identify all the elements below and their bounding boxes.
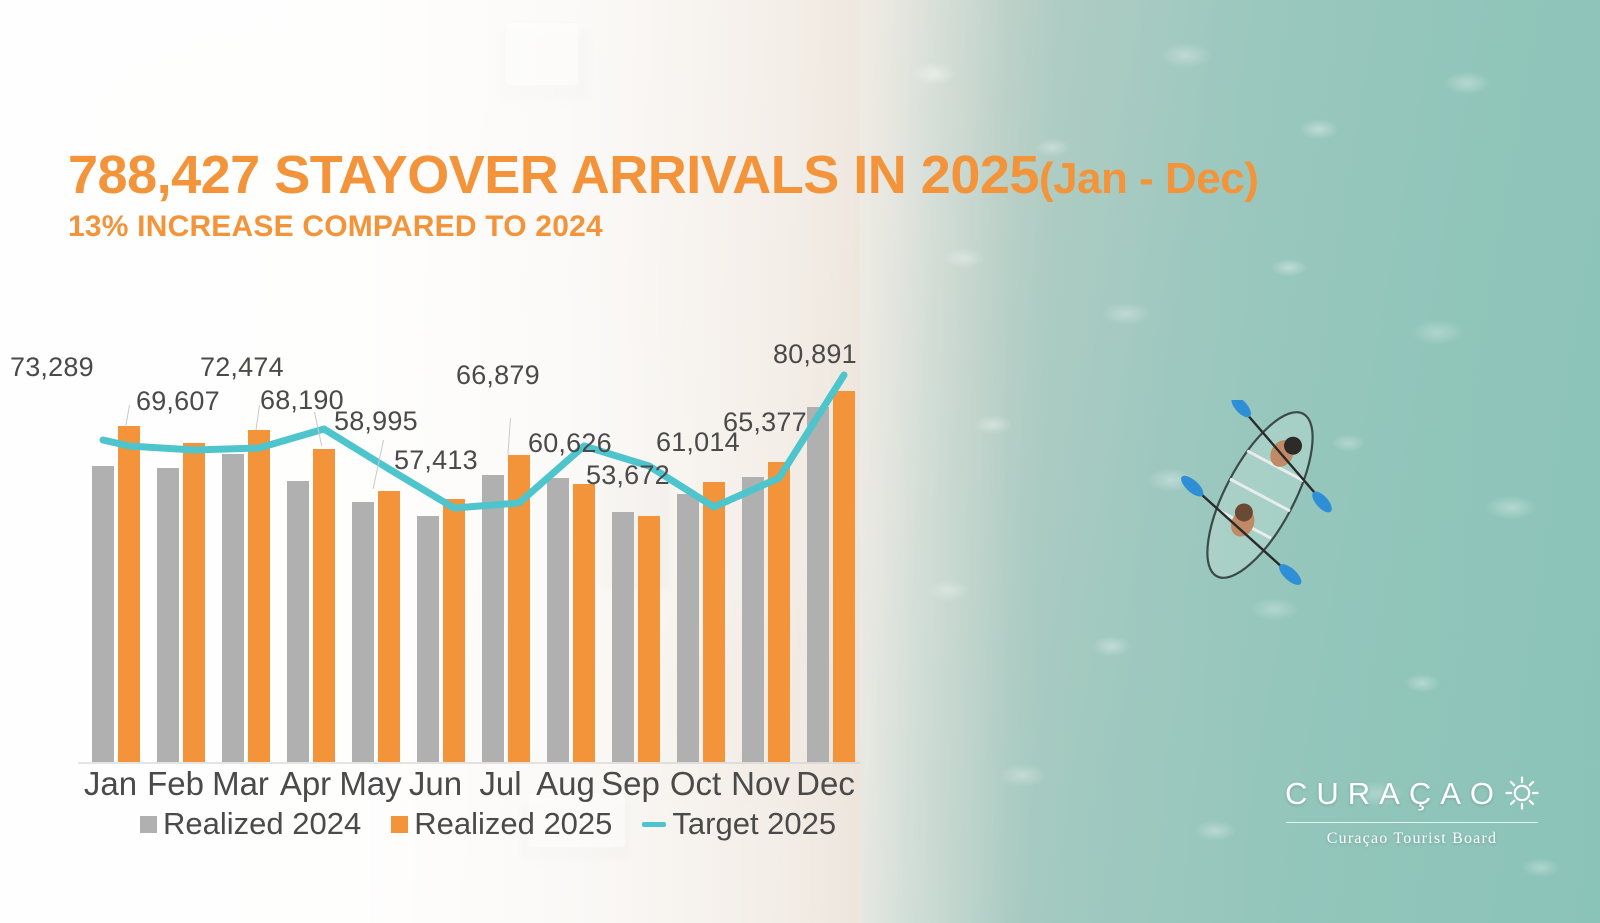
legend-item-realized-2025[interactable]: Realized 2025 — [391, 806, 612, 842]
infographic-canvas: 788,427 STAYOVER ARRIVALS IN 2025(Jan - … — [0, 0, 1600, 923]
data-label-jul: 66,879 — [456, 360, 540, 391]
x-label-jul: Jul — [468, 765, 533, 803]
legend-swatch-icon — [391, 816, 408, 833]
logo-tagline: Curaçao Tourist Board — [1282, 830, 1542, 848]
legend-swatch-icon — [140, 816, 157, 833]
x-label-jun: Jun — [403, 765, 468, 803]
chart-legend: Realized 2024 Realized 2025 Target 2025 — [140, 806, 836, 842]
legend-label-realized-2024: Realized 2024 — [163, 806, 361, 842]
chart-plot-area: 73,289 69,607 72,474 68,190 58,995 57,41… — [78, 300, 860, 762]
legend-item-realized-2024[interactable]: Realized 2024 — [140, 806, 361, 842]
legend-label-target-2025: Target 2025 — [672, 806, 836, 842]
data-label-mar: 72,474 — [200, 352, 284, 383]
data-label-nov: 65,377 — [723, 407, 807, 438]
chart-x-labels: Jan Feb Mar Apr May Jun Jul Aug Sep Oct … — [78, 765, 860, 811]
x-label-jan: Jan — [78, 765, 143, 803]
legend-item-target-2025[interactable]: Target 2025 — [642, 806, 836, 842]
data-label-sep: 53,672 — [586, 460, 670, 491]
legend-label-realized-2025: Realized 2025 — [414, 806, 612, 842]
x-label-mar: Mar — [208, 765, 273, 803]
legend-line-icon — [642, 822, 666, 827]
logo-wordmark-row: CURAÇAO — [1282, 776, 1542, 812]
data-label-apr: 68,190 — [260, 385, 344, 416]
x-label-feb: Feb — [143, 765, 208, 803]
data-label-jan: 73,289 — [10, 352, 94, 383]
x-label-nov: Nov — [728, 765, 793, 803]
data-label-jun: 57,413 — [394, 445, 478, 476]
x-label-may: May — [338, 765, 403, 803]
data-label-aug: 60,626 — [528, 428, 612, 459]
x-label-oct: Oct — [663, 765, 728, 803]
sun-icon — [1505, 776, 1539, 810]
curacao-tourist-board-logo: CURAÇAO Curaçao Tourist Board — [1282, 776, 1542, 848]
x-label-sep: Sep — [598, 765, 663, 803]
x-label-dec: Dec — [793, 765, 858, 803]
x-label-apr: Apr — [273, 765, 338, 803]
x-label-aug: Aug — [533, 765, 598, 803]
logo-divider — [1286, 822, 1538, 823]
data-label-dec: 80,891 — [773, 339, 857, 370]
chart-x-axis — [78, 762, 860, 764]
logo-wordmark: CURAÇAO — [1285, 776, 1503, 812]
data-label-feb: 69,607 — [136, 386, 220, 417]
data-label-may: 58,995 — [334, 406, 418, 437]
